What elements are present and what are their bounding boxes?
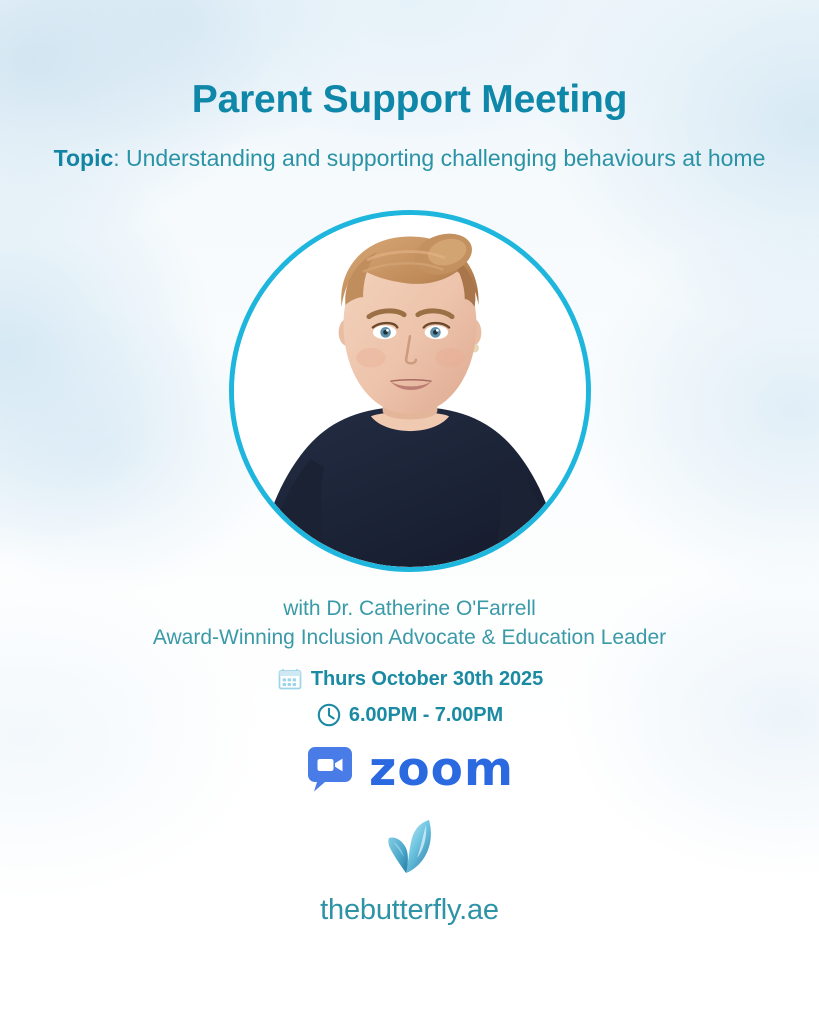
presenter-role: Award-Winning Inclusion Advocate & Educa… xyxy=(0,623,819,653)
zoom-logo: zoom xyxy=(0,744,819,794)
zoom-video-camera-icon xyxy=(305,744,355,794)
butterfly-logo-icon xyxy=(377,816,443,878)
calendar-icon xyxy=(276,665,304,693)
date-text: Thurs October 30th 2025 xyxy=(311,668,543,691)
zoom-wordmark: zoom xyxy=(369,746,514,793)
topic-label: Topic xyxy=(54,145,114,171)
presenter-portrait-photo xyxy=(234,215,586,567)
presenter-block: with Dr. Catherine O'Farrell Award-Winni… xyxy=(0,594,819,654)
topic-line: Topic: Understanding and supporting chal… xyxy=(0,144,819,174)
date-row: Thurs October 30th 2025 xyxy=(0,665,819,693)
topic-separator: : xyxy=(113,145,126,171)
presenter-name: with Dr. Catherine O'Farrell xyxy=(0,594,819,624)
time-text: 6.00PM - 7.00PM xyxy=(349,704,503,727)
avatar xyxy=(229,210,591,572)
butterfly-logo xyxy=(0,816,819,878)
time-row: 6.00PM - 7.00PM xyxy=(0,702,819,728)
poster-header: Parent Support Meeting Topic: Understand… xyxy=(0,0,819,174)
poster-canvas: Parent Support Meeting Topic: Understand… xyxy=(0,0,819,1024)
page-title: Parent Support Meeting xyxy=(0,78,819,122)
clock-icon xyxy=(316,702,342,728)
website-text[interactable]: thebutterfly.ae xyxy=(320,894,499,926)
topic-text: Understanding and supporting challenging… xyxy=(126,145,765,171)
website-row[interactable]: thebutterfly.ae xyxy=(0,894,819,927)
